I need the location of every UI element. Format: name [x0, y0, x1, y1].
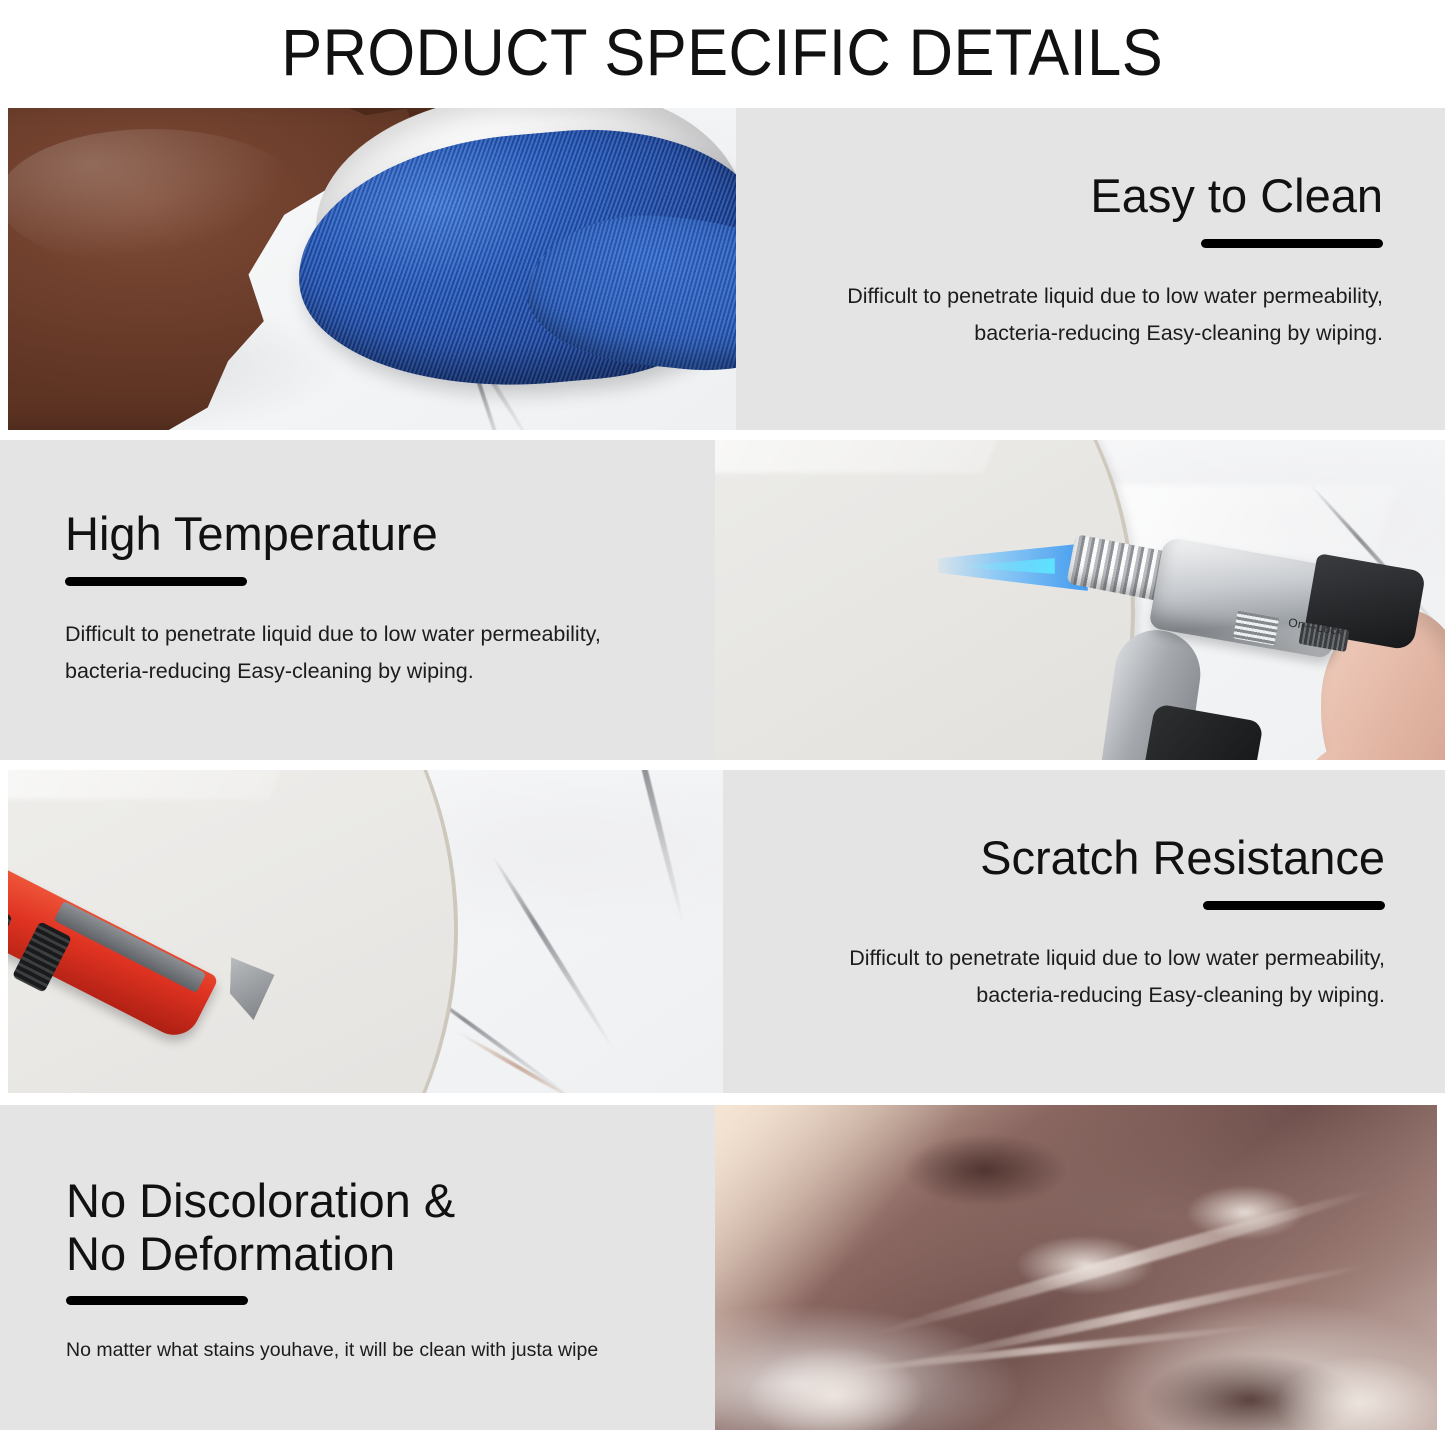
page-header: PRODUCT SPECIFIC DETAILS	[0, 0, 1445, 104]
panel-title: Easy to Clean	[823, 170, 1383, 223]
product-details-infographic: PRODUCT SPECIFIC DETAILS Easy to Clean D…	[0, 0, 1445, 1445]
description-line: No matter what stains youhave, it will b…	[66, 1333, 686, 1367]
image-reddish-brown-natural-stone-texture	[715, 1105, 1437, 1430]
panel-description: Difficult to penetrate liquid due to low…	[805, 940, 1385, 1015]
panel-easy-to-clean: Easy to Clean Difficult to penetrate liq…	[8, 108, 1445, 430]
photo-scene-stone	[715, 1105, 1437, 1430]
round-marble-slab	[715, 440, 1135, 760]
light-reflection	[8, 770, 329, 799]
title-underline	[1203, 901, 1385, 910]
copy-group: Scratch Resistance Difficult to penetrat…	[805, 832, 1385, 1015]
panel-title: No Discoloration & No Deformation	[66, 1175, 686, 1280]
panel-title: Scratch Resistance	[805, 832, 1385, 885]
stone-highlight	[1015, 1235, 1155, 1295]
copy-group: Easy to Clean Difficult to penetrate liq…	[823, 170, 1383, 353]
text-block-easy-to-clean: Easy to Clean Difficult to penetrate liq…	[736, 108, 1445, 430]
title-underline	[1201, 239, 1383, 248]
photo-scene-torch: On—Lock	[715, 440, 1445, 760]
panel-title-line: No Discoloration &	[66, 1175, 686, 1228]
panel-description: Difficult to penetrate liquid due to low…	[65, 616, 665, 691]
photo-scene-clean	[8, 108, 736, 430]
description-line: bacteria-reducing Easy-cleaning by wipin…	[823, 315, 1383, 353]
panel-scratch-resistance: Scratch Resistance Difficult to penetrat…	[8, 770, 1445, 1093]
light-reflection	[715, 440, 1050, 473]
panel-title-line: No Deformation	[66, 1228, 686, 1281]
image-chocolate-spill-wiped-with-blue-microfiber-cloth	[8, 108, 736, 430]
image-red-utility-knife-scratching-marble-slab	[8, 770, 723, 1093]
page-title: PRODUCT SPECIFIC DETAILS	[282, 14, 1164, 90]
description-line: Difficult to penetrate liquid due to low…	[823, 278, 1383, 316]
title-underline	[66, 1296, 248, 1305]
stone-highlight	[745, 1345, 925, 1430]
copy-group: No Discoloration & No Deformation No mat…	[66, 1175, 686, 1367]
description-line: bacteria-reducing Easy-cleaning by wipin…	[65, 653, 665, 691]
description-line: Difficult to penetrate liquid due to low…	[65, 616, 665, 654]
photo-scene-scratch	[8, 770, 723, 1093]
description-line: bacteria-reducing Easy-cleaning by wipin…	[805, 977, 1385, 1015]
panel-high-temperature: High Temperature Difficult to penetrate …	[0, 440, 1445, 760]
stone-highlight	[1185, 1185, 1305, 1240]
description-line: Difficult to penetrate liquid due to low…	[805, 940, 1385, 978]
panel-title: High Temperature	[65, 508, 665, 561]
panel-no-discoloration-no-deformation: No Discoloration & No Deformation No mat…	[0, 1105, 1445, 1430]
text-block-scratch-resistance: Scratch Resistance Difficult to penetrat…	[723, 770, 1445, 1093]
panel-description: Difficult to penetrate liquid due to low…	[823, 278, 1383, 353]
stone-shadow	[905, 1135, 1065, 1205]
title-underline	[65, 577, 247, 586]
stone-highlight	[1275, 1355, 1437, 1430]
copy-group: High Temperature Difficult to penetrate …	[65, 508, 665, 691]
text-block-high-temperature: High Temperature Difficult to penetrate …	[0, 440, 715, 760]
text-block-no-discoloration: No Discoloration & No Deformation No mat…	[0, 1105, 715, 1430]
image-blow-torch-flame-on-marble-slab: On—Lock	[715, 440, 1445, 760]
panel-description: No matter what stains youhave, it will b…	[66, 1333, 686, 1367]
